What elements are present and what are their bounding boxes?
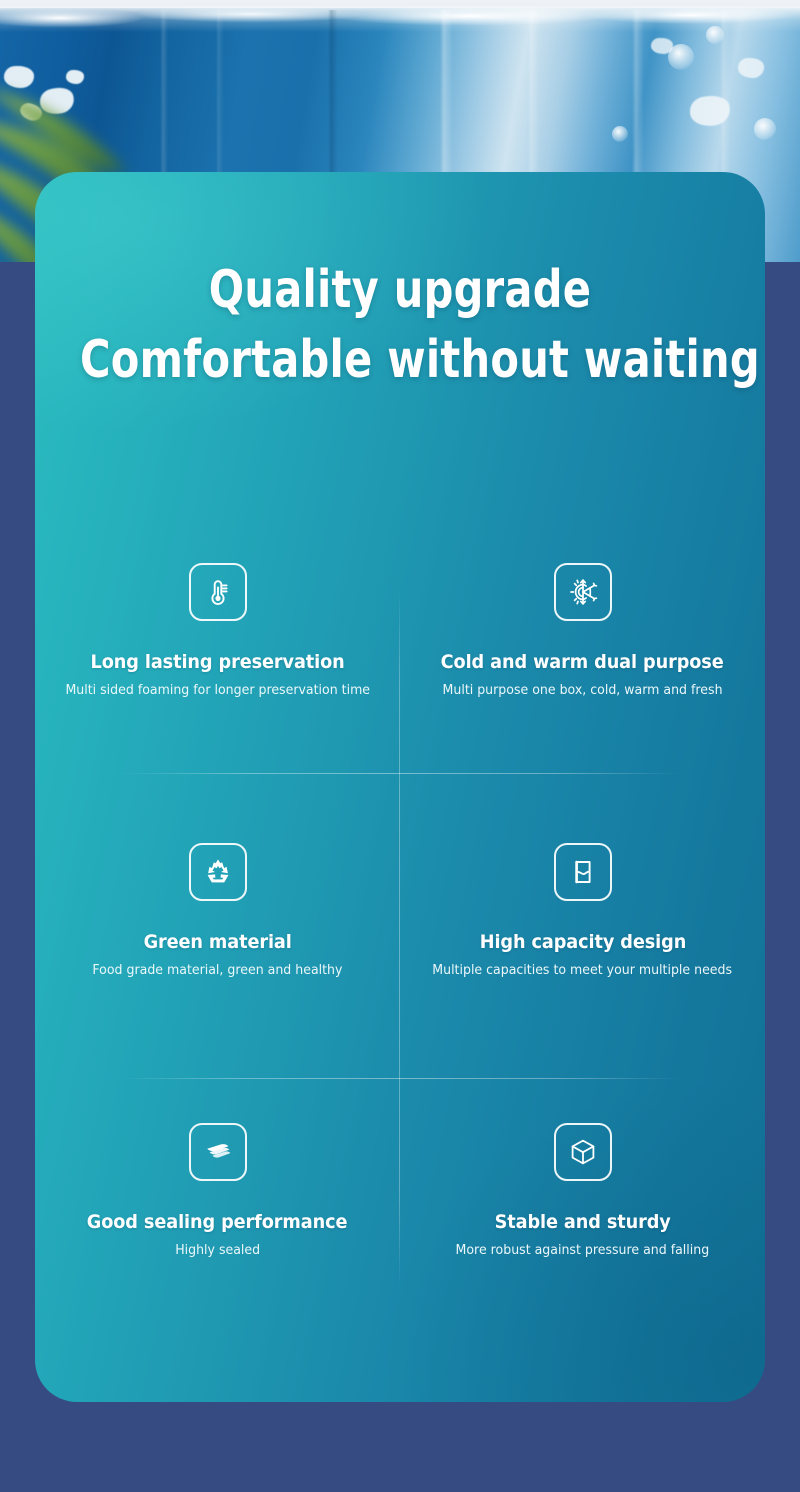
feature-title: Stable and sturdy bbox=[494, 1211, 670, 1233]
feature-title: Long lasting preservation bbox=[90, 651, 344, 673]
feature-title: Green material bbox=[143, 931, 291, 953]
water-bubble bbox=[668, 44, 694, 70]
thermometer-icon bbox=[189, 563, 247, 621]
feature-title: High capacity design bbox=[479, 931, 685, 953]
feature-description: Multi purpose one box, cold, warm and fr… bbox=[442, 682, 722, 698]
feature-description: Food grade material, green and healthy bbox=[92, 962, 342, 978]
ice-chunk bbox=[738, 58, 764, 78]
feature-description: Multi sided foaming for longer preservat… bbox=[65, 682, 370, 698]
sealed-layers-icon bbox=[189, 1123, 247, 1181]
headline-line-1: Quality upgrade bbox=[80, 258, 720, 322]
feature-grid: Long lasting preservation Multi sided fo… bbox=[35, 490, 765, 1330]
feature-item-good-sealing-performance[interactable]: Good sealing performance Highly sealed bbox=[35, 1050, 400, 1330]
headline-block: Quality upgrade Comfortable without wait… bbox=[0, 258, 800, 398]
water-bubble bbox=[754, 118, 776, 140]
headline-line-2: Comfortable without waiting bbox=[80, 322, 720, 398]
feature-description: Multiple capacities to meet your multipl… bbox=[433, 962, 733, 978]
container-water-level-icon bbox=[554, 843, 612, 901]
feature-item-long-lasting-preservation[interactable]: Long lasting preservation Multi sided fo… bbox=[35, 490, 400, 770]
feature-item-green-material[interactable]: Green material Food grade material, gree… bbox=[35, 770, 400, 1050]
feature-item-high-capacity-design[interactable]: High capacity design Multiple capacities… bbox=[400, 770, 765, 1050]
water-bubble bbox=[706, 26, 724, 44]
water-bubble bbox=[612, 126, 628, 142]
feature-title: Good sealing performance bbox=[87, 1211, 348, 1233]
sun-snowflake-icon bbox=[554, 563, 612, 621]
feature-description: More robust against pressure and falling bbox=[456, 1242, 710, 1258]
feature-title: Cold and warm dual purpose bbox=[441, 651, 724, 673]
feature-item-stable-and-sturdy[interactable]: Stable and sturdy More robust against pr… bbox=[400, 1050, 765, 1330]
feature-item-cold-and-warm-dual-purpose[interactable]: Cold and warm dual purpose Multi purpose… bbox=[400, 490, 765, 770]
recycle-icon bbox=[189, 843, 247, 901]
feature-description: Highly sealed bbox=[175, 1242, 260, 1258]
cube-3d-icon bbox=[554, 1123, 612, 1181]
product-feature-page: Quality upgrade Comfortable without wait… bbox=[0, 0, 800, 1492]
